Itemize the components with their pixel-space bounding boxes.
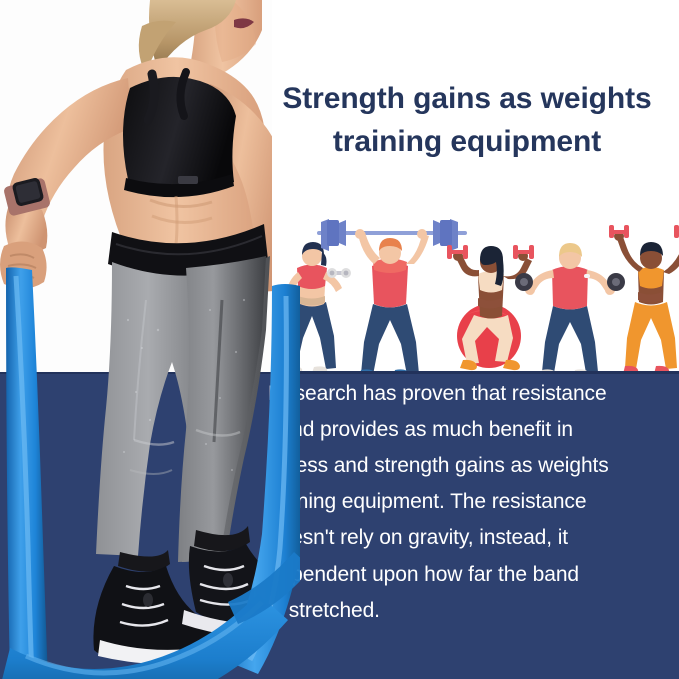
description-line: is stretched. <box>268 593 676 629</box>
page-title-line-2: training equipment <box>262 121 672 164</box>
description-line: dependent upon how far the band <box>268 557 676 593</box>
description-line: doesn't rely on gravity, instead, it <box>268 520 676 556</box>
description-line: band provides as much benefit in <box>268 412 676 448</box>
page-title: Strength gains as weights training equip… <box>262 78 672 163</box>
description-paragraph: Research has proven that resistance band… <box>268 376 676 629</box>
exercise-illustration-strip <box>272 218 679 373</box>
poster-canvas: Strength gains as weights training equip… <box>0 0 679 679</box>
fitness-photo <box>0 0 272 679</box>
description-line: Research has proven that resistance <box>268 376 676 412</box>
page-title-line-1: Strength gains as weights <box>262 78 672 121</box>
description-line: fitness and strength gains as weights <box>268 448 676 484</box>
description-line: training equipment. The resistance <box>268 484 676 520</box>
